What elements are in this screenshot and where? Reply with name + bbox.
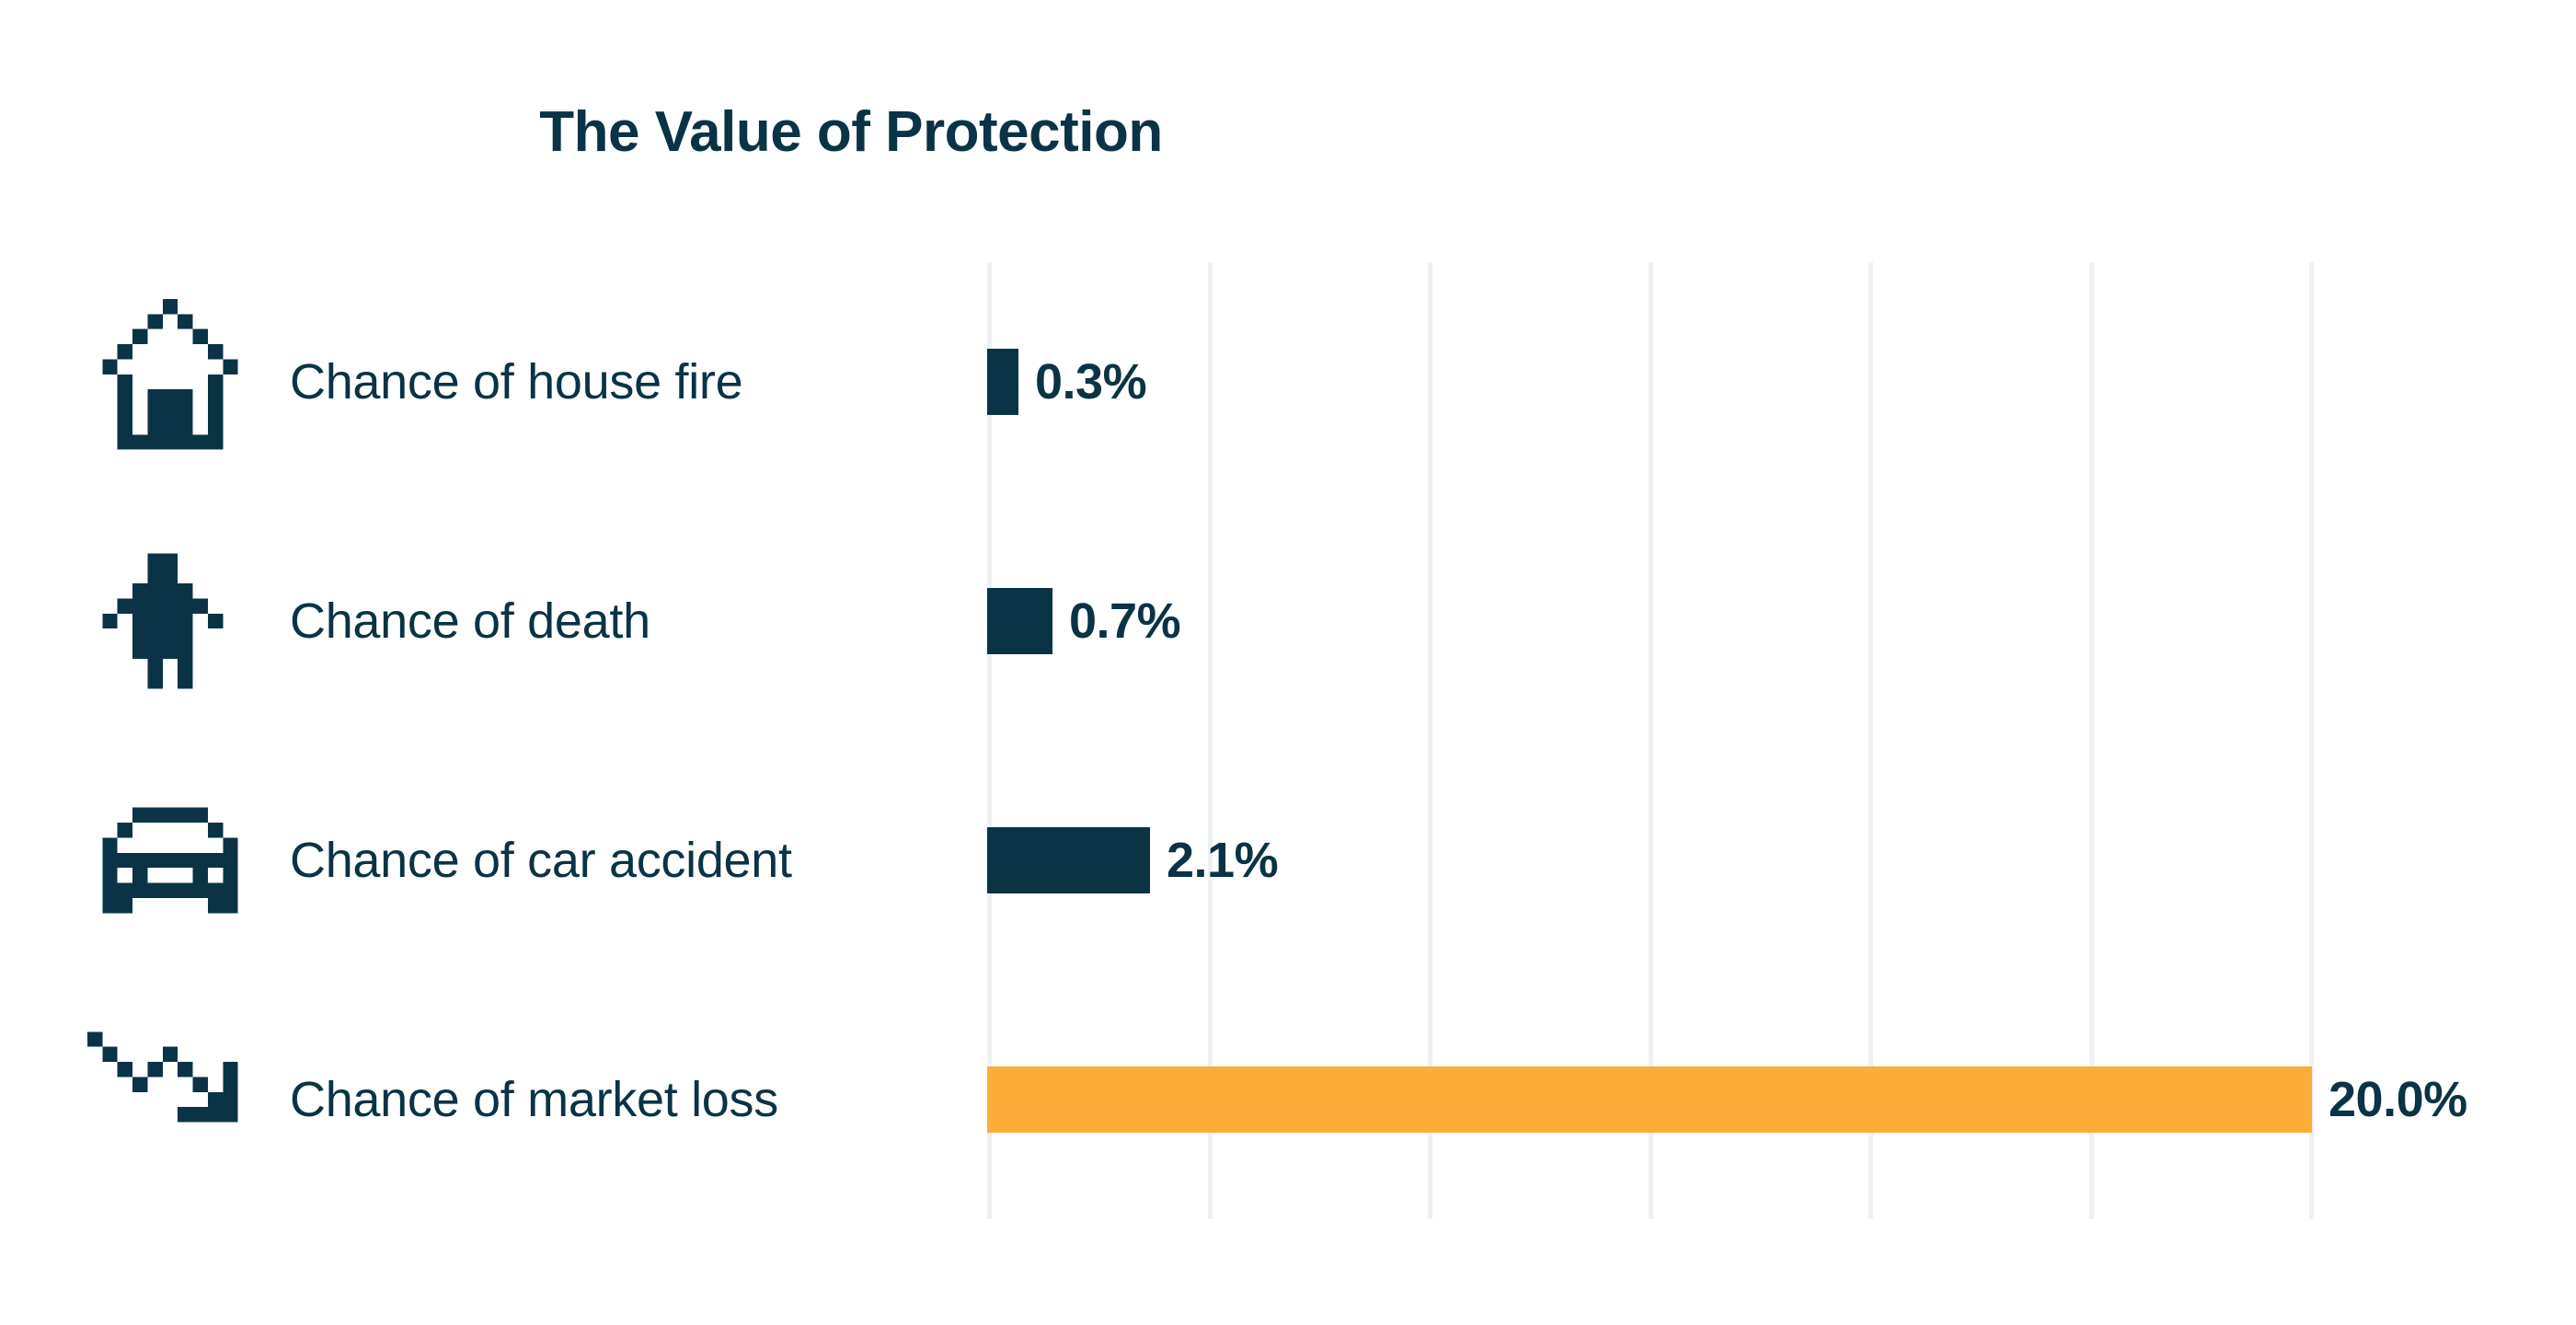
row-label: Chance of market loss (290, 1071, 778, 1128)
bar-value-label: 0.3% (1035, 353, 1146, 410)
row-label: Chance of house fire (290, 353, 742, 410)
bar (987, 827, 1150, 893)
page-title: The Value of Protection (0, 99, 1702, 165)
chart-row-death: Chance of death 0.7% (0, 501, 2576, 741)
bar (987, 1066, 2312, 1133)
bar-group: 20.0% (987, 1066, 2467, 1133)
bar-group: 0.7% (987, 588, 1180, 654)
chart-row-market-loss: Chance of market loss 20.0% (0, 980, 2576, 1219)
declining-chart-icon (87, 1017, 253, 1182)
bar-group: 2.1% (987, 827, 1278, 893)
bar (987, 588, 1052, 654)
chart-row-car-accident: Chance of car accident 2.1% (0, 741, 2576, 980)
house-icon (87, 299, 253, 465)
chart-row-house-fire: Chance of house fire 0.3% (0, 262, 2576, 501)
bar-value-label: 20.0% (2329, 1071, 2467, 1128)
row-label: Chance of death (290, 593, 650, 650)
chart-rows: Chance of house fire 0.3% (0, 262, 2576, 1219)
bar-value-label: 2.1% (1167, 832, 1278, 889)
bar (987, 349, 1018, 415)
bar-group: 0.3% (987, 349, 1146, 415)
car-icon (87, 778, 253, 943)
chart-page: The Value of Protection (0, 0, 2576, 1325)
bar-value-label: 0.7% (1069, 593, 1180, 650)
person-icon (87, 538, 253, 704)
row-label: Chance of car accident (290, 832, 792, 889)
